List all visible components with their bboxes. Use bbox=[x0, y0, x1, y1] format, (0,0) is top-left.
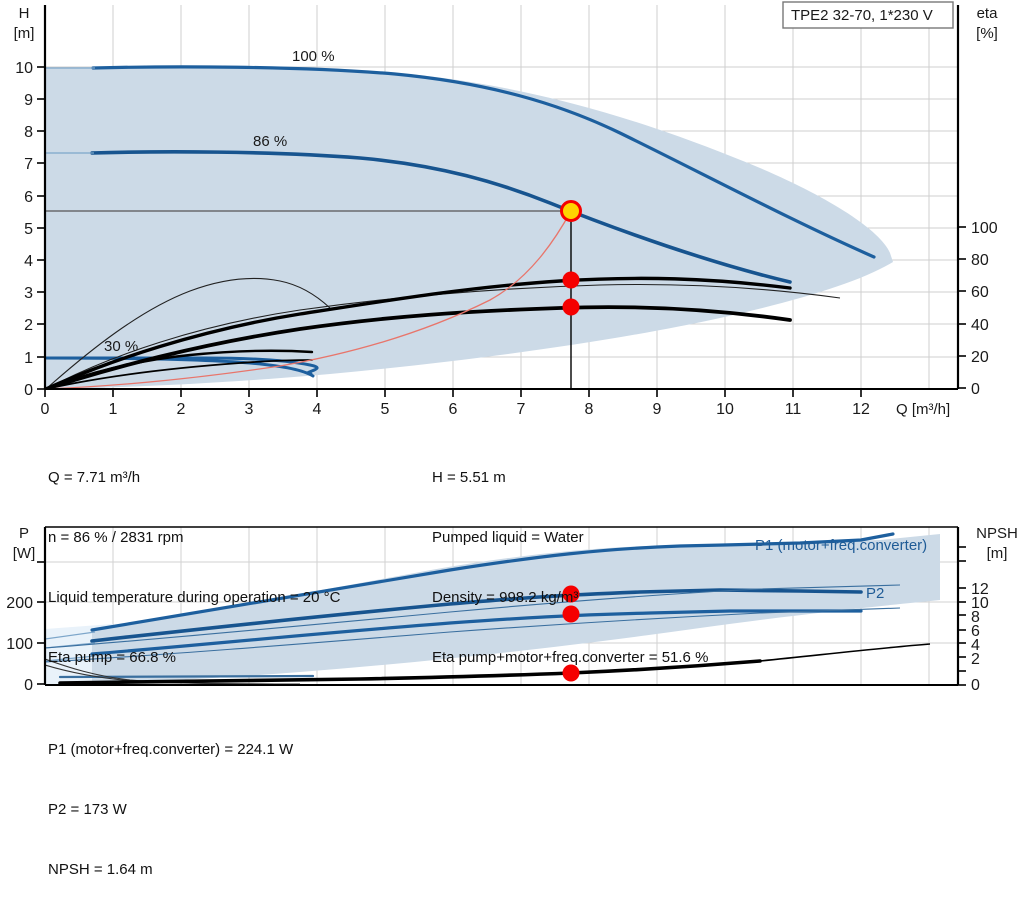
tick-q-3: 3 bbox=[245, 401, 254, 418]
bottom-chart-right-ticks bbox=[958, 547, 966, 685]
readout-h: H = 5.51 m bbox=[432, 468, 708, 488]
tick-q-4: 4 bbox=[313, 401, 322, 418]
marker-eta-pump[interactable] bbox=[563, 272, 580, 289]
tick-h-10: 10 bbox=[15, 60, 33, 77]
axis-label-eta: eta bbox=[977, 5, 999, 22]
top-chart-left-ticks bbox=[37, 67, 45, 389]
readout-density: Density = 998.2 kg/m³ bbox=[432, 588, 708, 608]
tick-h-0: 0 bbox=[24, 382, 33, 399]
axis-label-q: Q [m³/h] bbox=[896, 401, 950, 418]
tick-q-7: 7 bbox=[517, 401, 526, 418]
bottom-chart-left-ticks bbox=[37, 562, 45, 684]
readout-npsh: NPSH = 1.64 m bbox=[48, 860, 293, 880]
readout-temp: Liquid temperature during operation = 20… bbox=[48, 588, 340, 608]
top-chart-right-ticks bbox=[958, 227, 966, 388]
readout-top-right: H = 5.51 m Pumped liquid = Water Density… bbox=[432, 428, 708, 688]
npsh-curve-thin-ext bbox=[760, 644, 930, 661]
title-box-label: TPE2 32-70, 1*230 V bbox=[791, 7, 933, 24]
series-label-p2: P2 bbox=[866, 585, 884, 602]
tick-eta-100: 100 bbox=[971, 220, 998, 237]
tick-h-4: 4 bbox=[24, 253, 33, 270]
tick-h-8: 8 bbox=[24, 124, 33, 141]
envelope-fill-top bbox=[45, 67, 893, 389]
top-chart-x-tick-labels: 0 1 2 3 4 5 6 7 8 9 10 11 12 bbox=[41, 401, 870, 418]
bottom-chart-left-tick-labels: 200 100 0 bbox=[6, 595, 33, 694]
tick-h-3: 3 bbox=[24, 285, 33, 302]
axis-unit-npsh: [m] bbox=[987, 545, 1008, 562]
tick-h-6: 6 bbox=[24, 189, 33, 206]
tick-h-7: 7 bbox=[24, 156, 33, 173]
tick-q-2: 2 bbox=[177, 401, 186, 418]
series-label-p1: P1 (motor+freq.converter) bbox=[755, 537, 927, 554]
tick-q-6: 6 bbox=[449, 401, 458, 418]
tick-q-11: 11 bbox=[785, 401, 802, 418]
readout-n: n = 86 % / 2831 rpm bbox=[48, 528, 340, 548]
curve-label-30: 30 % bbox=[104, 338, 138, 355]
tick-q-5: 5 bbox=[381, 401, 390, 418]
pump-curve-page: 10 9 8 7 6 5 4 3 2 1 0 0 1 2 3 4 bbox=[0, 0, 1024, 781]
tick-h-1: 1 bbox=[24, 350, 33, 367]
top-chart-group: 10 9 8 7 6 5 4 3 2 1 0 0 1 2 3 4 bbox=[14, 2, 999, 418]
tick-q-10: 10 bbox=[716, 401, 734, 418]
tick-npsh-2: 2 bbox=[971, 651, 980, 668]
marker-duty-point[interactable] bbox=[562, 202, 581, 221]
top-chart-left-tick-labels: 10 9 8 7 6 5 4 3 2 1 0 bbox=[15, 60, 33, 399]
readout-bottom: P1 (motor+freq.converter) = 224.1 W P2 =… bbox=[48, 700, 293, 900]
readout-p2: P2 = 173 W bbox=[48, 800, 293, 820]
top-chart-right-tick-labels: 100 80 60 40 20 0 bbox=[971, 220, 998, 398]
curve-label-86: 86 % bbox=[253, 133, 287, 150]
readout-liquid: Pumped liquid = Water bbox=[432, 528, 708, 548]
tick-eta-0: 0 bbox=[971, 381, 980, 398]
tick-h-9: 9 bbox=[24, 92, 33, 109]
axis-label-h: H bbox=[19, 5, 30, 22]
curve-label-100: 100 % bbox=[292, 48, 335, 65]
tick-eta-20: 20 bbox=[971, 349, 989, 366]
readout-top-left: Q = 7.71 m³/h n = 86 % / 2831 rpm Liquid… bbox=[48, 428, 340, 688]
tick-p-0: 0 bbox=[24, 677, 33, 694]
tick-q-0: 0 bbox=[41, 401, 50, 418]
axis-label-npsh: NPSH bbox=[976, 525, 1018, 542]
axis-unit-eta: [%] bbox=[976, 25, 998, 42]
marker-eta-total[interactable] bbox=[563, 299, 580, 316]
bottom-chart-right-tick-labels: 12 10 8 6 4 2 0 bbox=[971, 581, 989, 694]
readout-eta-pump: Eta pump = 66.8 % bbox=[48, 648, 340, 668]
tick-eta-60: 60 bbox=[971, 284, 989, 301]
readout-eta-total: Eta pump+motor+freq.converter = 51.6 % bbox=[432, 648, 708, 668]
readout-p1: P1 (motor+freq.converter) = 224.1 W bbox=[48, 740, 293, 760]
top-chart-x-ticks bbox=[45, 389, 861, 397]
tick-eta-80: 80 bbox=[971, 252, 989, 269]
tick-eta-40: 40 bbox=[971, 317, 989, 334]
axis-unit-h: [m] bbox=[14, 25, 35, 42]
axis-label-p: P bbox=[19, 525, 29, 542]
tick-npsh-0: 0 bbox=[971, 677, 980, 694]
tick-q-8: 8 bbox=[585, 401, 594, 418]
tick-h-2: 2 bbox=[24, 317, 33, 334]
tick-q-12: 12 bbox=[852, 401, 870, 418]
axis-unit-p: [W] bbox=[13, 545, 36, 562]
tick-p-200: 200 bbox=[6, 595, 33, 612]
tick-p-100: 100 bbox=[6, 636, 33, 653]
readout-q: Q = 7.71 m³/h bbox=[48, 468, 340, 488]
tick-h-5: 5 bbox=[24, 221, 33, 238]
tick-q-1: 1 bbox=[109, 401, 118, 418]
tick-q-9: 9 bbox=[653, 401, 662, 418]
